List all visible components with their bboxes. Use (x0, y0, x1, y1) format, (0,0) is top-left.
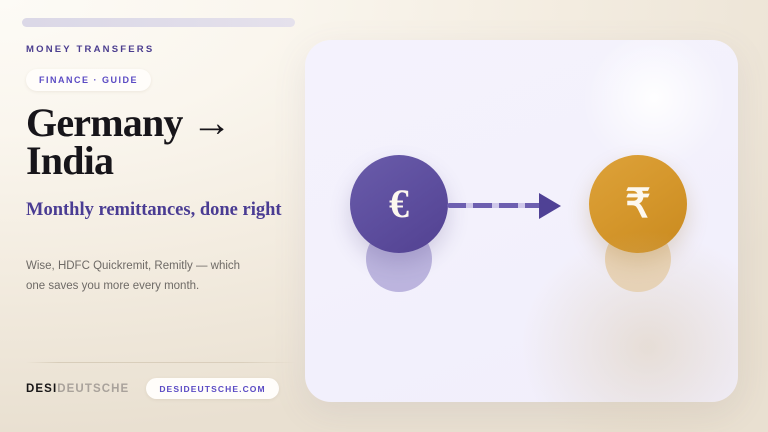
body-paragraph: Wise, HDFC Quickremit, Remitly — which o… (26, 256, 241, 297)
headline-destination: India (26, 138, 113, 183)
website-url-pill[interactable]: DESIDEUTSCHE.COM (146, 378, 278, 399)
wordmark-secondary: DEUTSCHE (57, 383, 129, 395)
footer-divider (26, 362, 296, 363)
illustration-card: € ₹ (305, 40, 738, 402)
dashed-line (447, 203, 543, 208)
eyebrow-label: MONEY TRANSFERS (26, 44, 154, 55)
category-badge[interactable]: FINANCE · GUIDE (26, 69, 151, 91)
rupee-icon: ₹ (625, 184, 650, 224)
arrow-right-icon: → (192, 100, 231, 145)
subheading: Monthly remittances, done right (26, 200, 291, 221)
euro-coin: € (350, 155, 448, 253)
arrow-head-icon (539, 193, 561, 219)
top-accent-bar (22, 18, 295, 27)
poster-canvas: MONEY TRANSFERS FINANCE · GUIDE Germany … (0, 0, 768, 432)
transfer-arrow (447, 198, 565, 212)
euro-icon: € (389, 184, 409, 224)
footer: DESIDEUTSCHE DESIDEUTSCHE.COM (26, 378, 279, 399)
page-title: Germany → India (26, 104, 296, 180)
currency-transfer-diagram: € ₹ (305, 40, 738, 402)
wordmark-primary: DESI (26, 383, 57, 395)
rupee-coin: ₹ (589, 155, 687, 253)
left-content-column: MONEY TRANSFERS FINANCE · GUIDE Germany … (0, 0, 300, 432)
brand-wordmark: DESIDEUTSCHE (26, 383, 129, 395)
